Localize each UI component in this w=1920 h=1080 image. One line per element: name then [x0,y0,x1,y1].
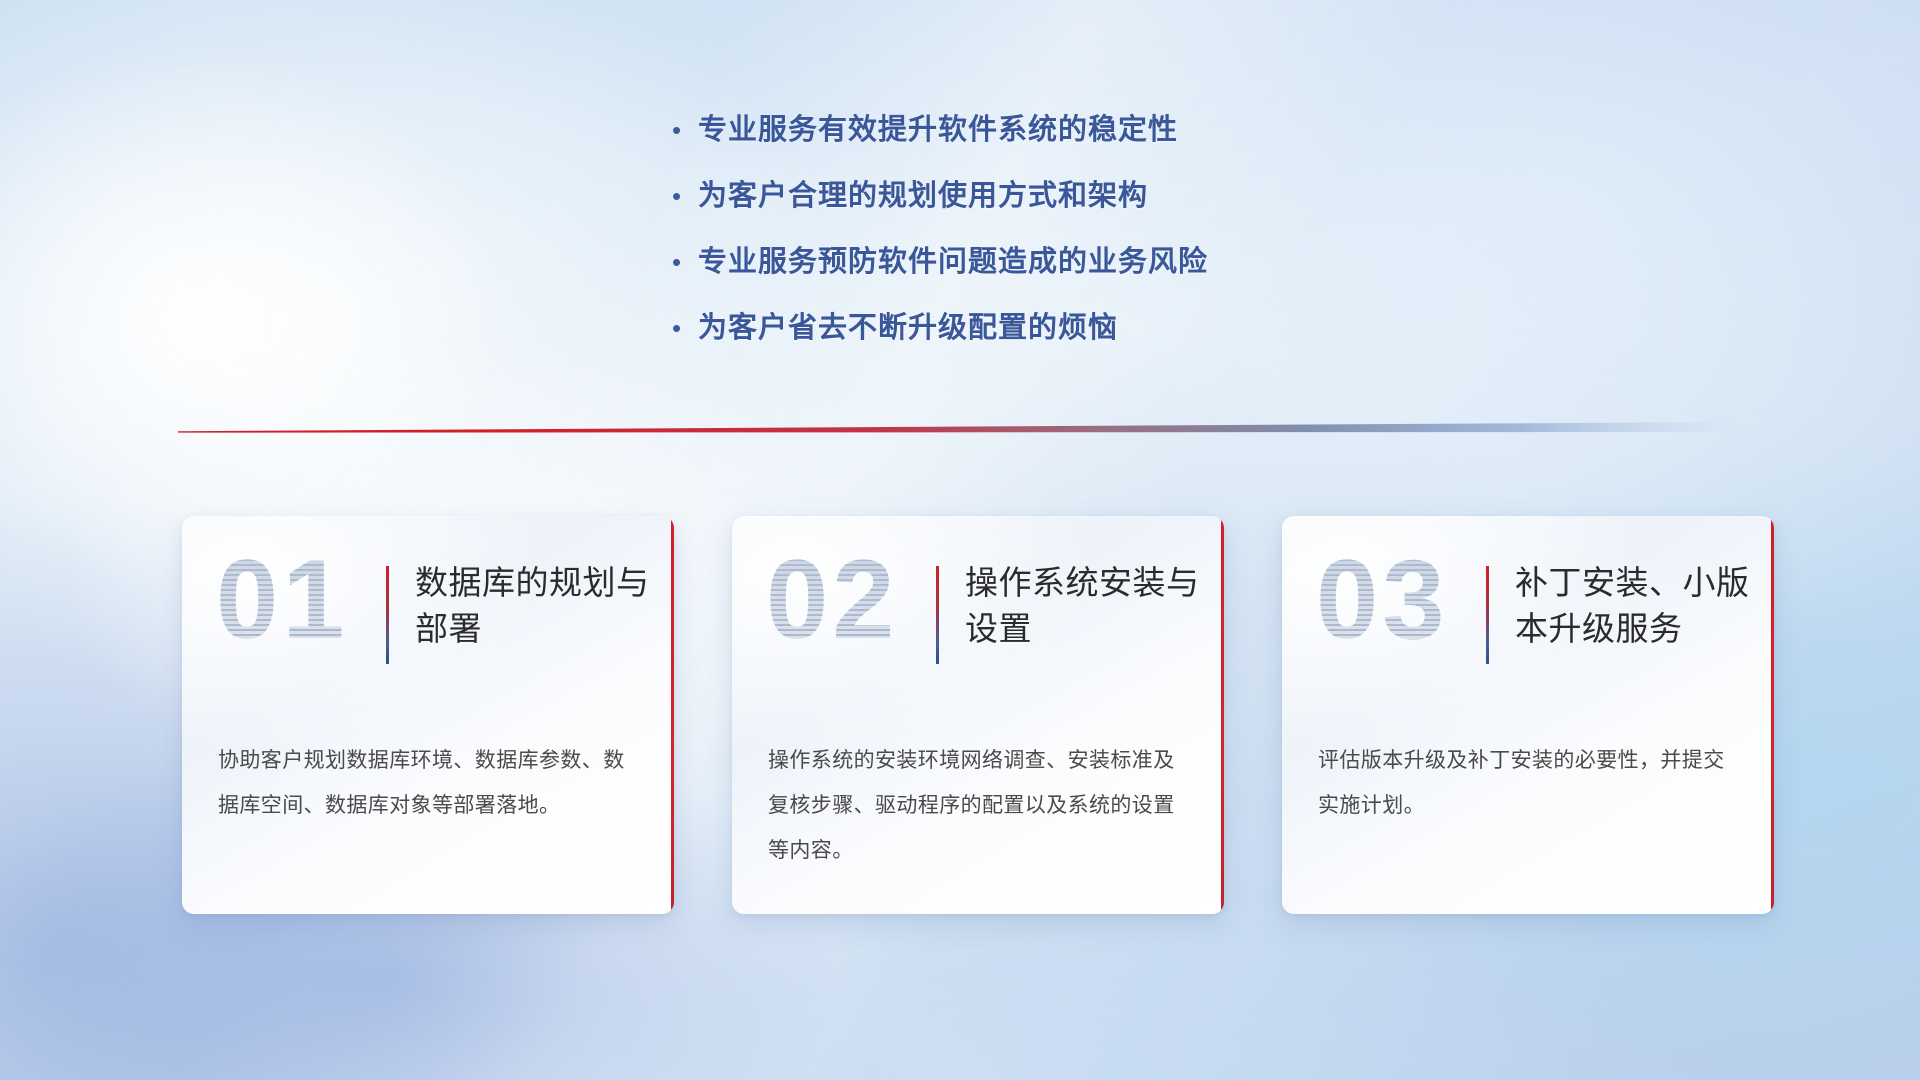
divider-wedge-icon [178,418,1738,444]
card-description: 协助客户规划数据库环境、数据库参数、数据库空间、数据库对象等部署落地。 [218,738,636,828]
card-header: 操作系统安装与设置 [936,560,1203,664]
slide-canvas: • 专业服务有效提升软件系统的稳定性 • 为客户合理的规划使用方式和架构 • 专… [0,0,1920,1080]
card-title-rule [936,566,939,664]
bullet-label: 为客户省去不断升级配置的烦恼 [698,310,1118,346]
card-step-number: 01 [216,544,349,656]
bullet-marker-icon: • [672,244,698,280]
service-card[interactable]: 02 操作系统安装与设置 操作系统的安装环境网络调查、安装标准及复核步骤、驱动程… [732,516,1224,914]
card-title: 操作系统安装与设置 [965,560,1203,652]
card-description: 评估版本升级及补丁安装的必要性，并提交实施计划。 [1318,738,1736,828]
section-divider [178,418,1738,444]
bullet-item: • 专业服务预防软件问题造成的业务风险 [672,244,1432,280]
card-title: 补丁安装、小版本升级服务 [1515,560,1753,652]
benefits-bullet-list: • 专业服务有效提升软件系统的稳定性 • 为客户合理的规划使用方式和架构 • 专… [672,112,1432,376]
service-cards-row: 01 数据库的规划与部署 协助客户规划数据库环境、数据库参数、数据库空间、数据库… [182,516,1774,914]
service-card[interactable]: 01 数据库的规划与部署 协助客户规划数据库环境、数据库参数、数据库空间、数据库… [182,516,674,914]
bullet-marker-icon: • [672,112,698,148]
bullet-marker-icon: • [672,310,698,346]
card-step-number: 03 [1316,544,1449,656]
card-title: 数据库的规划与部署 [415,560,653,652]
bullet-item: • 为客户合理的规划使用方式和架构 [672,178,1432,214]
card-accent-edge [1221,516,1224,914]
card-description: 操作系统的安装环境网络调查、安装标准及复核步骤、驱动程序的配置以及系统的设置等内… [768,738,1186,873]
bullet-marker-icon: • [672,178,698,214]
card-header: 数据库的规划与部署 [386,560,653,664]
card-title-rule [1486,566,1489,664]
card-accent-edge [671,516,674,914]
bullet-label: 专业服务有效提升软件系统的稳定性 [698,112,1178,148]
card-step-number: 02 [766,544,899,656]
bullet-item: • 为客户省去不断升级配置的烦恼 [672,310,1432,346]
card-header: 补丁安装、小版本升级服务 [1486,560,1753,664]
bullet-label: 专业服务预防软件问题造成的业务风险 [698,244,1208,280]
bullet-label: 为客户合理的规划使用方式和架构 [698,178,1148,214]
card-accent-edge [1771,516,1774,914]
service-card[interactable]: 03 补丁安装、小版本升级服务 评估版本升级及补丁安装的必要性，并提交实施计划。 [1282,516,1774,914]
card-title-rule [386,566,389,664]
bullet-item: • 专业服务有效提升软件系统的稳定性 [672,112,1432,148]
